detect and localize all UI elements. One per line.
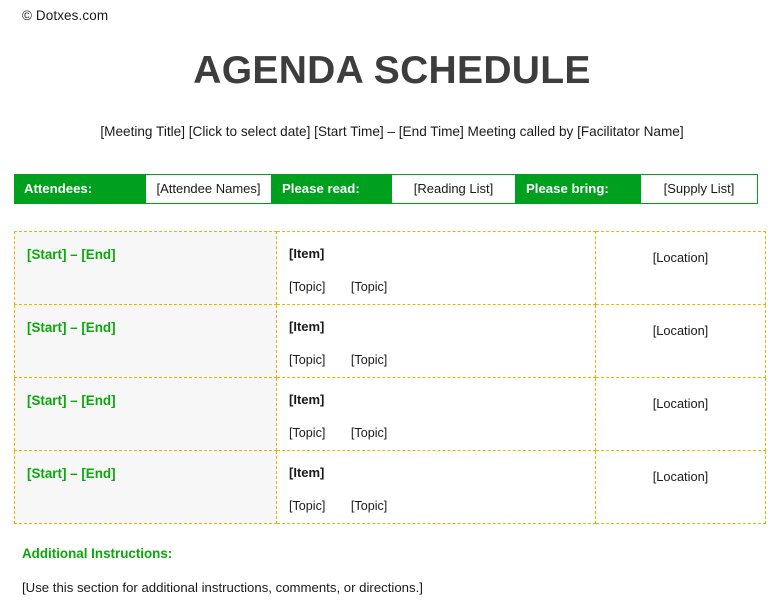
agenda-item-cell-inner: [Item] [Topic] [Topic] bbox=[277, 232, 595, 304]
agenda-location-cell-inner: [Location] bbox=[596, 451, 765, 523]
additional-instructions-heading: Additional Instructions: bbox=[22, 546, 172, 561]
agenda-location-text: [Location] bbox=[653, 469, 709, 484]
agenda-location-text: [Location] bbox=[653, 396, 709, 411]
agenda-topic-text: [Topic] bbox=[289, 352, 325, 368]
agenda-time-text: [Start] – [End] bbox=[27, 466, 116, 481]
additional-instructions-body[interactable]: [Use this section for additional instruc… bbox=[22, 580, 423, 595]
agenda-location-cell[interactable]: [Location] bbox=[596, 378, 766, 451]
reading-list-value-field[interactable]: [Reading List] bbox=[391, 174, 516, 204]
agenda-time-text: [Start] – [End] bbox=[27, 247, 116, 262]
page-title: AGENDA SCHEDULE bbox=[0, 48, 784, 94]
agenda-table-body: [Start] – [End] [Item] [Topic] [Topic] [… bbox=[15, 232, 766, 524]
agenda-item-cell[interactable]: [Item] [Topic] [Topic] bbox=[277, 378, 596, 451]
meeting-info-bar: Attendees: [Attendee Names] Please read:… bbox=[14, 174, 758, 204]
agenda-topic-row: [Topic] [Topic] bbox=[289, 279, 595, 295]
agenda-topic-text: [Topic] bbox=[351, 352, 387, 368]
please-bring-label: Please bring: bbox=[516, 174, 640, 204]
agenda-topic-row: [Topic] [Topic] bbox=[289, 352, 595, 368]
supply-list-value-field[interactable]: [Supply List] bbox=[640, 174, 758, 204]
agenda-time-text: [Start] – [End] bbox=[27, 320, 116, 335]
table-row: [Start] – [End] [Item] [Topic] [Topic] [… bbox=[15, 378, 766, 451]
agenda-topic-text: [Topic] bbox=[351, 279, 387, 295]
agenda-item-cell[interactable]: [Item] [Topic] [Topic] bbox=[277, 305, 596, 378]
agenda-time-cell-inner: [Start] – [End] bbox=[15, 378, 276, 450]
agenda-location-text: [Location] bbox=[653, 323, 709, 338]
agenda-location-cell-inner: [Location] bbox=[596, 378, 765, 450]
agenda-location-cell[interactable]: [Location] bbox=[596, 305, 766, 378]
copyright-notice: © Dotxes.com bbox=[22, 7, 108, 25]
agenda-location-cell[interactable]: [Location] bbox=[596, 451, 766, 524]
agenda-time-cell[interactable]: [Start] – [End] bbox=[15, 451, 277, 524]
table-row: [Start] – [End] [Item] [Topic] [Topic] [… bbox=[15, 232, 766, 305]
please-read-label: Please read: bbox=[272, 174, 391, 204]
agenda-topic-text: [Topic] bbox=[289, 425, 325, 441]
agenda-item-text: [Item] bbox=[289, 319, 595, 335]
agenda-item-cell-inner: [Item] [Topic] [Topic] bbox=[277, 451, 595, 523]
agenda-topic-row: [Topic] [Topic] bbox=[289, 498, 595, 514]
agenda-time-cell-inner: [Start] – [End] bbox=[15, 451, 276, 523]
agenda-topic-text: [Topic] bbox=[351, 425, 387, 441]
agenda-location-cell-inner: [Location] bbox=[596, 305, 765, 377]
agenda-location-text: [Location] bbox=[653, 250, 709, 265]
agenda-topic-text: [Topic] bbox=[289, 498, 325, 514]
agenda-item-cell-inner: [Item] [Topic] [Topic] bbox=[277, 378, 595, 450]
agenda-topic-text: [Topic] bbox=[289, 279, 325, 295]
agenda-time-cell-inner: [Start] – [End] bbox=[15, 232, 276, 304]
agenda-item-cell-inner: [Item] [Topic] [Topic] bbox=[277, 305, 595, 377]
agenda-time-cell[interactable]: [Start] – [End] bbox=[15, 378, 277, 451]
agenda-location-cell-inner: [Location] bbox=[596, 232, 765, 304]
agenda-item-cell[interactable]: [Item] [Topic] [Topic] bbox=[277, 451, 596, 524]
attendees-label: Attendees: bbox=[14, 174, 145, 204]
agenda-topic-text: [Topic] bbox=[351, 498, 387, 514]
agenda-time-cell[interactable]: [Start] – [End] bbox=[15, 305, 277, 378]
agenda-item-text: [Item] bbox=[289, 392, 595, 408]
attendees-value-field[interactable]: [Attendee Names] bbox=[145, 174, 272, 204]
agenda-item-text: [Item] bbox=[289, 465, 595, 481]
agenda-time-cell-inner: [Start] – [End] bbox=[15, 305, 276, 377]
table-row: [Start] – [End] [Item] [Topic] [Topic] [… bbox=[15, 305, 766, 378]
agenda-schedule-document: © Dotxes.com AGENDA SCHEDULE [Meeting Ti… bbox=[0, 0, 784, 608]
agenda-item-cell[interactable]: [Item] [Topic] [Topic] bbox=[277, 232, 596, 305]
agenda-table: [Start] – [End] [Item] [Topic] [Topic] [… bbox=[14, 231, 766, 524]
agenda-location-cell[interactable]: [Location] bbox=[596, 232, 766, 305]
table-row: [Start] – [End] [Item] [Topic] [Topic] [… bbox=[15, 451, 766, 524]
agenda-time-cell[interactable]: [Start] – [End] bbox=[15, 232, 277, 305]
agenda-item-text: [Item] bbox=[289, 246, 595, 262]
agenda-topic-row: [Topic] [Topic] bbox=[289, 425, 595, 441]
agenda-time-text: [Start] – [End] bbox=[27, 393, 116, 408]
meeting-details-line: [Meeting Title] [Click to select date] [… bbox=[0, 122, 784, 142]
